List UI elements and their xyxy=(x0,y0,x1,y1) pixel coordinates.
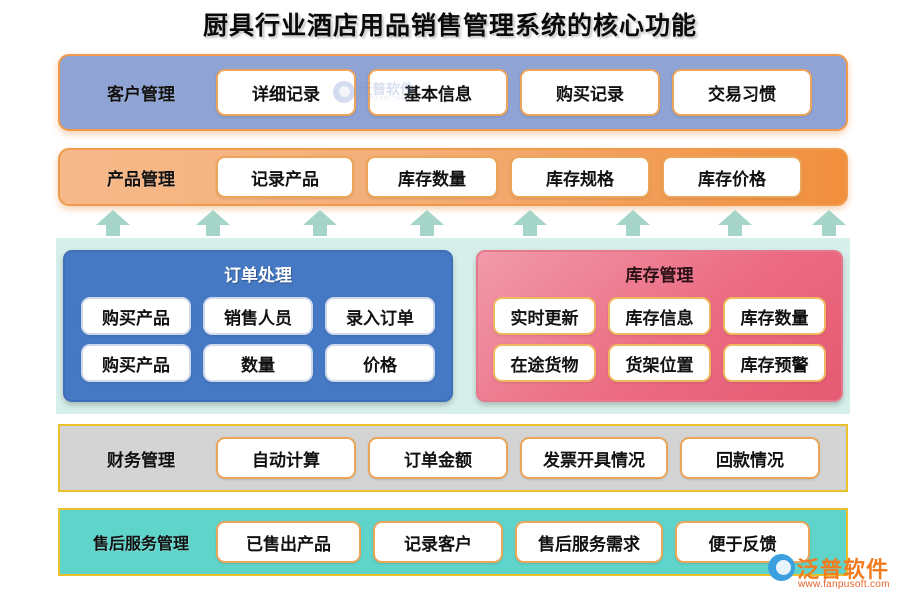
pill-product-0[interactable]: 记录产品 xyxy=(216,156,354,198)
pill-customer-3[interactable]: 交易习惯 xyxy=(672,69,812,116)
up-arrow-icon-2 xyxy=(196,210,230,236)
row-service-label: 售后服务管理 xyxy=(66,530,216,554)
pill-order-0[interactable]: 购买产品 xyxy=(81,297,191,335)
pill-customer-2[interactable]: 购买记录 xyxy=(520,69,660,116)
watermark-url: www.fanpusoft.com xyxy=(798,579,890,590)
pill-order-5[interactable]: 价格 xyxy=(325,344,435,382)
pill-order-1[interactable]: 销售人员 xyxy=(203,297,313,335)
pill-service-0[interactable]: 已售出产品 xyxy=(216,521,361,563)
up-arrow-icon-7 xyxy=(718,210,752,236)
pill-order-2[interactable]: 录入订单 xyxy=(325,297,435,335)
row-product-management: 产品管理 记录产品 库存数量 库存规格 库存价格 xyxy=(58,148,848,206)
row-after-sales-management: 售后服务管理 已售出产品 记录客户 售后服务需求 便于反馈 xyxy=(58,508,848,576)
panel-order-title: 订单处理 xyxy=(65,261,451,286)
pill-inventory-1[interactable]: 库存信息 xyxy=(608,297,711,335)
row-customer-management: 客户管理 详细记录 基本信息 购买记录 交易习惯 xyxy=(58,54,848,131)
row-finance-label: 财务管理 xyxy=(66,446,216,471)
pill-order-3[interactable]: 购买产品 xyxy=(81,344,191,382)
up-arrow-icon-1 xyxy=(96,210,130,236)
pill-service-1[interactable]: 记录客户 xyxy=(373,521,503,563)
up-arrow-icon-4 xyxy=(410,210,444,236)
pill-product-3[interactable]: 库存价格 xyxy=(662,156,802,198)
up-arrow-icon-6 xyxy=(616,210,650,236)
arrow-group xyxy=(58,208,848,238)
pill-inventory-4[interactable]: 货架位置 xyxy=(608,344,711,382)
pill-product-1[interactable]: 库存数量 xyxy=(366,156,498,198)
up-arrow-icon-5 xyxy=(513,210,547,236)
panel-inventory-management: 库存管理 实时更新 库存信息 库存数量 在途货物 货架位置 库存预警 xyxy=(476,250,843,402)
pill-service-2[interactable]: 售后服务需求 xyxy=(515,521,663,563)
pill-inventory-5[interactable]: 库存预警 xyxy=(723,344,826,382)
pill-finance-0[interactable]: 自动计算 xyxy=(216,437,356,479)
row-customer-label: 客户管理 xyxy=(66,80,216,105)
panel-inventory-title: 库存管理 xyxy=(478,261,841,286)
pill-inventory-0[interactable]: 实时更新 xyxy=(493,297,596,335)
pill-inventory-3[interactable]: 在途货物 xyxy=(493,344,596,382)
panel-order-processing: 订单处理 购买产品 销售人员 录入订单 购买产品 数量 价格 xyxy=(63,250,453,402)
middle-section: 订单处理 购买产品 销售人员 录入订单 购买产品 数量 价格 库存管理 实时更新… xyxy=(56,238,850,414)
row-product-label: 产品管理 xyxy=(66,165,216,190)
pill-finance-3[interactable]: 回款情况 xyxy=(680,437,820,479)
pill-inventory-2[interactable]: 库存数量 xyxy=(723,297,826,335)
row-finance-management: 财务管理 自动计算 订单金额 发票开具情况 回款情况 xyxy=(58,424,848,492)
pill-customer-1[interactable]: 基本信息 xyxy=(368,69,508,116)
pill-customer-0[interactable]: 详细记录 xyxy=(216,69,356,116)
pill-product-2[interactable]: 库存规格 xyxy=(510,156,650,198)
up-arrow-icon-3 xyxy=(303,210,337,236)
pill-service-3[interactable]: 便于反馈 xyxy=(675,521,810,563)
page-title: 厨具行业酒店用品销售管理系统的核心功能 xyxy=(0,6,900,42)
pill-finance-1[interactable]: 订单金额 xyxy=(368,437,508,479)
pill-finance-2[interactable]: 发票开具情况 xyxy=(520,437,668,479)
pill-order-4[interactable]: 数量 xyxy=(203,344,313,382)
diagram-canvas: 厨具行业酒店用品销售管理系统的核心功能 客户管理 详细记录 基本信息 购买记录 … xyxy=(0,0,900,600)
up-arrow-icon-8 xyxy=(812,210,846,236)
